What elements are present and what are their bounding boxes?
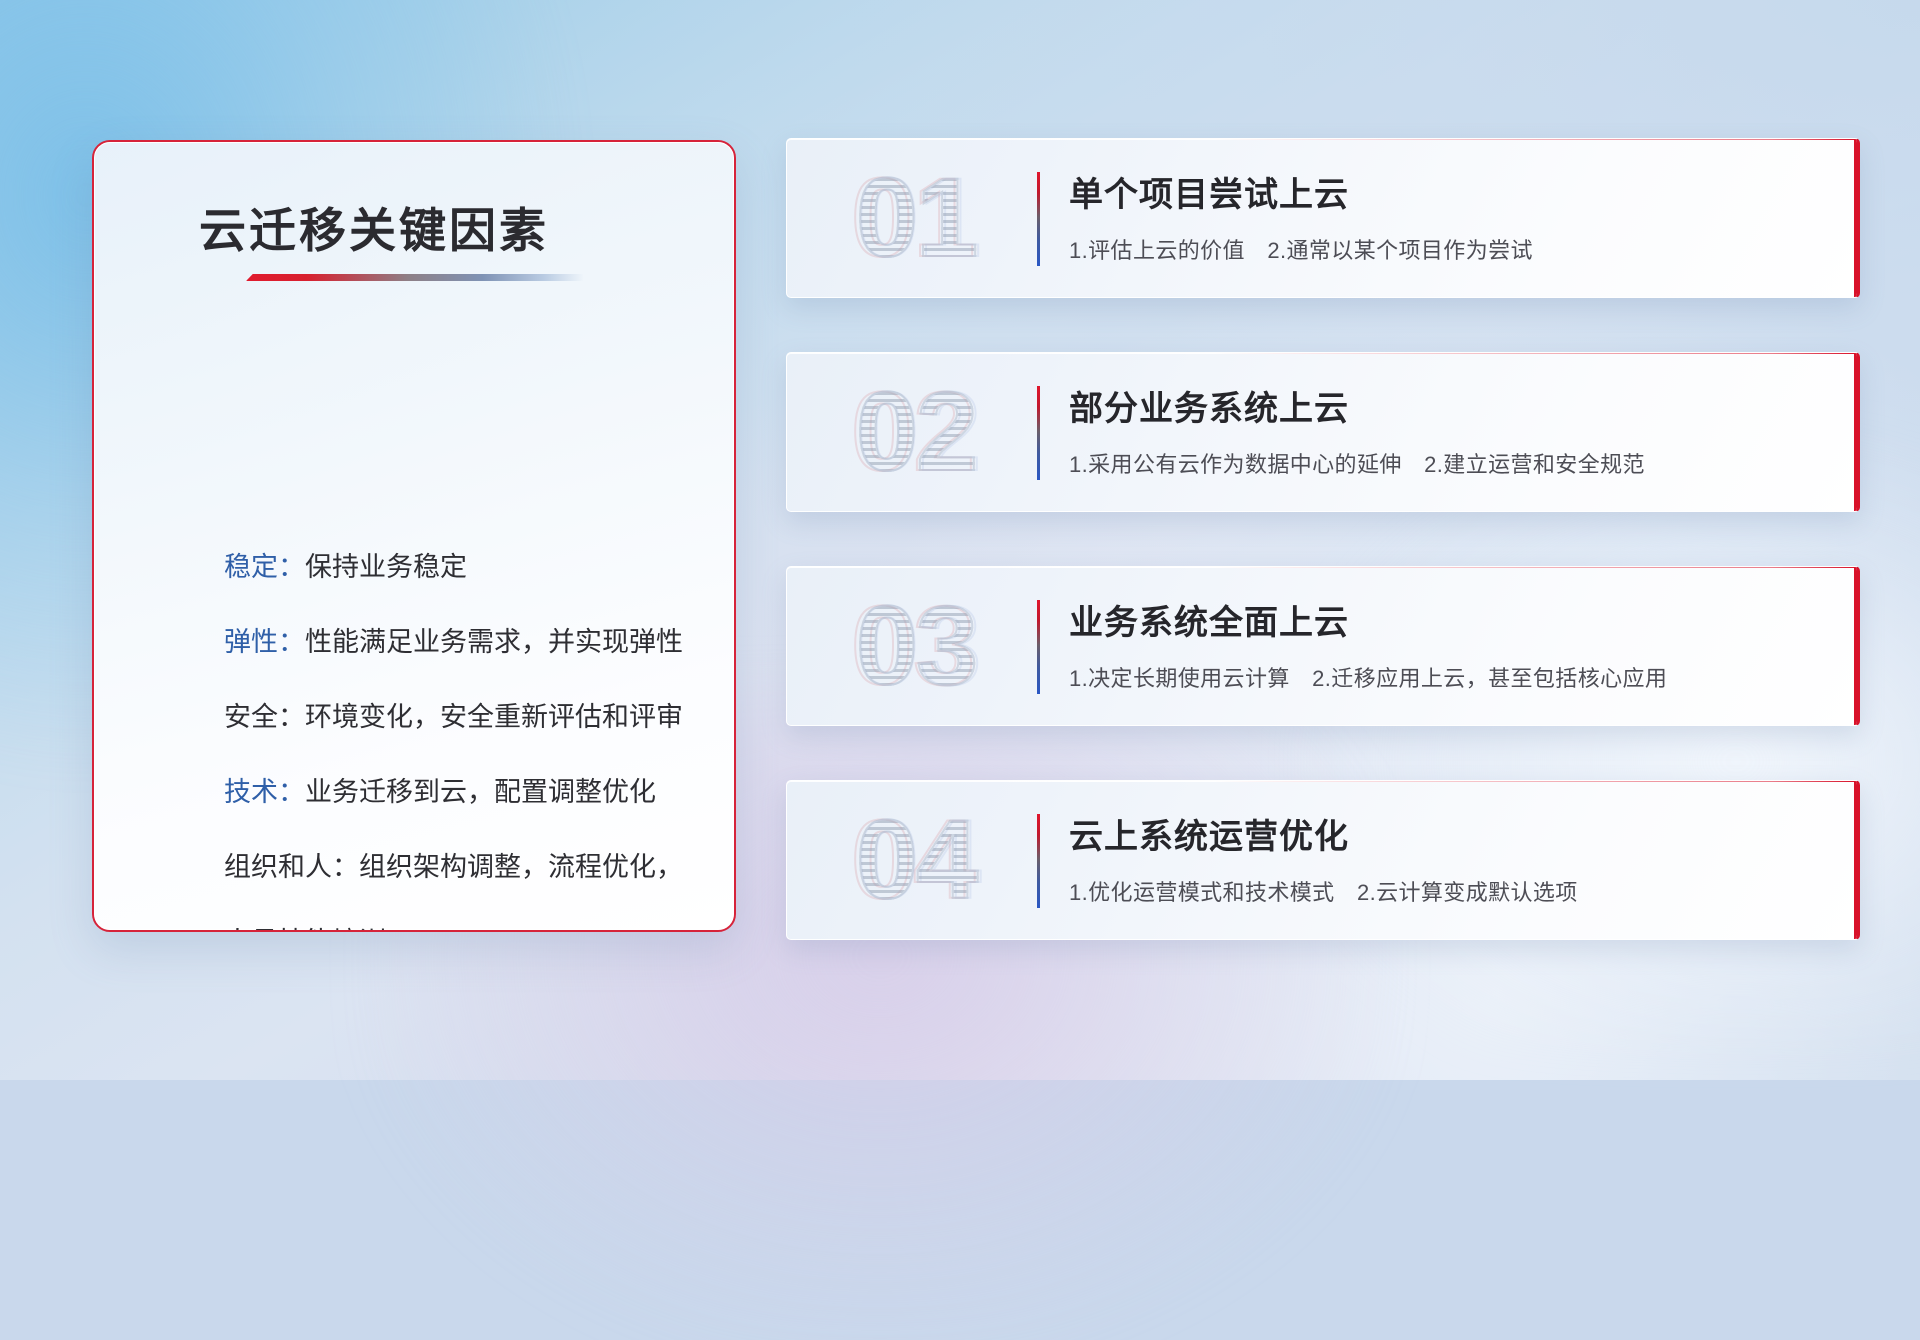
factor-key: 技术： [224,777,305,807]
step-title: 业务系统全面上云 [1069,595,1349,644]
step-number: 04 [821,799,1011,921]
step-description: 1.采用公有云作为数据中心的延伸 2.建立运营和安全规范 [1069,447,1645,479]
list-item: 稳定：保持业务稳定 [224,530,694,605]
step-description: 1.优化运营模式和技术模式 2.云计算变成默认选项 [1069,875,1578,907]
title-underline-accent [246,274,584,281]
step-accent-bar [1037,172,1040,266]
panel-title: 云迁移关键因素 [199,192,549,261]
step-title: 云上系统运营优化 [1069,809,1349,858]
step-accent-bar [1037,814,1040,908]
step-card-01[interactable]: 01 01 01 单个项目尝试上云 1.评估上云的价值 2.通常以某个项目作为尝… [786,138,1860,298]
step-description: 1.评估上云的价值 2.通常以某个项目作为尝试 [1069,233,1533,265]
list-item: 组织和人：组织架构调整，流程优化， [224,830,694,905]
step-number: 03 [821,585,1011,707]
list-item: 安全：环境变化，安全重新评估和评审 [224,680,694,755]
list-item: 弹性：性能满足业务需求，并实现弹性 [224,605,694,680]
step-accent-bar [1037,600,1040,694]
step-number: 01 [821,157,1011,279]
factor-key: 弹性： [224,627,305,657]
factor-text: 保持业务稳定 [305,552,467,582]
background-glow-right [1280,420,1920,1040]
step-card-03[interactable]: 03 03 03 业务系统全面上云 1.决定长期使用云计算 2.迁移应用上云，甚… [786,566,1860,726]
step-card-04[interactable]: 04 04 04 云上系统运营优化 1.优化运营模式和技术模式 2.云计算变成默… [786,780,1860,940]
factor-key: 安全： [224,702,305,732]
step-card-02[interactable]: 02 02 02 部分业务系统上云 1.采用公有云作为数据中心的延伸 2.建立运… [786,352,1860,512]
factor-key: 组织和人： [224,852,359,882]
factor-text-continuation: 人员技能培训 [224,905,694,932]
factor-text: 环境变化，安全重新评估和评审 [305,702,683,732]
step-title: 部分业务系统上云 [1069,381,1349,430]
factor-key: 稳定： [224,552,305,582]
step-number: 02 [821,371,1011,493]
factor-list: 稳定：保持业务稳定 弹性：性能满足业务需求，并实现弹性 安全：环境变化，安全重新… [224,530,694,932]
step-accent-bar [1037,386,1040,480]
list-item: 技术：业务迁移到云，配置调整优化 [224,755,694,830]
step-title: 单个项目尝试上云 [1069,167,1349,216]
factor-text: 组织架构调整，流程优化， [359,852,683,882]
factor-text: 业务迁移到云，配置调整优化 [305,777,656,807]
step-description: 1.决定长期使用云计算 2.迁移应用上云，甚至包括核心应用 [1069,661,1667,693]
factor-text: 性能满足业务需求，并实现弹性 [305,627,683,657]
key-factors-panel: 云迁移关键因素 稳定：保持业务稳定 弹性：性能满足业务需求，并实现弹性 安全：环… [92,140,736,932]
